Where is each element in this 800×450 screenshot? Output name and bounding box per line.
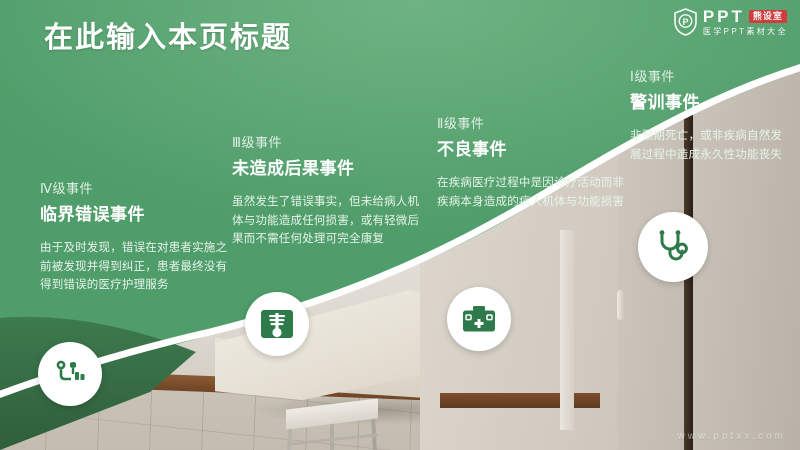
block-description: 虽然发生了错误事实，但未给病人机体与功能造成任何损害，或有轻微后果而不需任何处理… [232, 193, 428, 249]
medical-kit-icon [462, 305, 496, 333]
level-label: Ⅰ级事件 [630, 66, 790, 85]
block-headline: 临界错误事件 [40, 200, 236, 225]
level-label: Ⅲ级事件 [232, 132, 428, 151]
page-title: 在此输入本页标题 [44, 14, 292, 56]
content-block-level-1: Ⅰ级事件 警训事件 非预期死亡，或非疾病自然发展过程中造成永久性功能丧失 [630, 66, 790, 164]
block-headline: 警训事件 [630, 88, 790, 113]
block-description: 由于及时发现，错误在对患者实施之前被发现并得到纠正，患者最终没有得到错误的医疗护… [40, 239, 236, 295]
shield-icon: P [673, 8, 698, 36]
brand-badge: 熊设室 [749, 10, 787, 23]
icon-bubble-level-1[interactable] [638, 212, 708, 282]
level-label: Ⅳ级事件 [40, 178, 236, 197]
icon-bubble-level-4[interactable] [38, 342, 102, 406]
content-block-level-3: Ⅲ级事件 未造成后果事件 虽然发生了错误事实，但未给病人机体与功能造成任何损害，… [232, 132, 428, 249]
level-label: Ⅱ级事件 [437, 113, 633, 132]
brand-logo[interactable]: P PPT 熊设室 医学PPT素材大全 [673, 8, 788, 36]
block-headline: 未造成后果事件 [232, 154, 428, 179]
x-ray-icon [260, 309, 294, 339]
blood-pressure-monitor-icon [54, 359, 86, 389]
brand-tagline: 医学PPT素材大全 [703, 28, 788, 36]
brand-logo-text: PPT 熊设室 医学PPT素材大全 [703, 8, 788, 36]
brand-wordmark: PPT [703, 8, 745, 25]
icon-bubble-level-3[interactable] [245, 292, 309, 356]
svg-text:P: P [682, 17, 688, 27]
block-description: 在疾病医疗过程中是因诊疗活动而非疾病本身造成的病人机体与功能损害 [437, 174, 633, 211]
stethoscope-icon [656, 230, 690, 264]
content-block-level-4: Ⅳ级事件 临界错误事件 由于及时发现，错误在对患者实施之前被发现并得到纠正，患者… [40, 178, 236, 295]
icon-bubble-level-2[interactable] [447, 287, 511, 351]
block-headline: 不良事件 [437, 135, 633, 160]
block-description: 非预期死亡，或非疾病自然发展过程中造成永久性功能丧失 [630, 127, 790, 164]
presentation-slide: 在此输入本页标题 P PPT 熊设室 医学PPT素材大全 Ⅳ级事件 临界错误事件… [0, 0, 800, 450]
site-watermark: www.pptxx.com [678, 431, 786, 442]
content-block-level-2: Ⅱ级事件 不良事件 在疾病医疗过程中是因诊疗活动而非疾病本身造成的病人机体与功能… [437, 113, 633, 211]
